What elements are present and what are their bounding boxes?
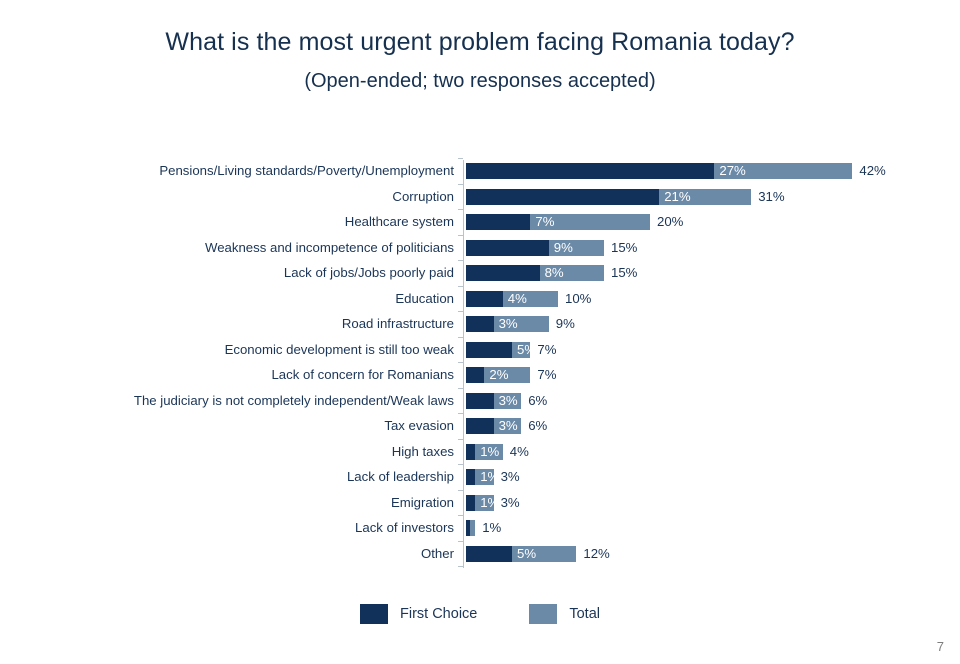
category-label: Road infrastructure <box>34 316 454 332</box>
bar-row: Pensions/Living standards/Poverty/Unempl… <box>0 163 960 189</box>
bar-first-choice <box>466 316 494 332</box>
category-label: Lack of investors <box>34 520 454 536</box>
bar-first-choice <box>466 393 494 409</box>
category-label: Emigration <box>34 495 454 511</box>
category-label: Lack of leadership <box>34 469 454 485</box>
bar-value-first-choice: 3% <box>494 393 518 409</box>
axis-tick <box>458 388 463 389</box>
legend-label: First Choice <box>400 606 477 622</box>
category-label: Lack of concern for Romanians <box>34 367 454 383</box>
bar-value-total: 7% <box>530 367 556 383</box>
bar-value-first-choice: 2% <box>484 367 508 383</box>
bar-value-first-choice: 1% <box>475 444 499 460</box>
axis-tick <box>458 464 463 465</box>
category-label: Lack of jobs/Jobs poorly paid <box>34 265 454 281</box>
category-label: Corruption <box>34 189 454 205</box>
bar-value-first-choice: 9% <box>549 240 573 256</box>
bar-row: Economic development is still too weak5%… <box>0 342 960 368</box>
bar-value-total: 20% <box>650 214 683 230</box>
bar-value-total: 12% <box>576 546 609 562</box>
bar-first-choice <box>466 367 484 383</box>
chart-plot-area: Pensions/Living standards/Poverty/Unempl… <box>0 0 960 664</box>
bar-row: Road infrastructure3%9% <box>0 316 960 342</box>
axis-tick <box>458 235 463 236</box>
axis-tick <box>458 515 463 516</box>
bar-value-total: 9% <box>549 316 575 332</box>
axis-tick <box>458 209 463 210</box>
bar-first-choice <box>466 469 475 485</box>
bar-first-choice <box>466 291 503 307</box>
bar-value-first-choice: 8% <box>540 265 564 281</box>
axis-tick <box>458 337 463 338</box>
category-label: High taxes <box>34 444 454 460</box>
axis-tick <box>458 184 463 185</box>
bar-value-total: 1% <box>475 520 501 536</box>
legend-item[interactable]: Total <box>529 604 600 624</box>
axis-tick <box>458 158 463 159</box>
bar-first-choice <box>466 444 475 460</box>
bar-value-first-choice: 3% <box>494 418 518 434</box>
bar-value-total: 6% <box>521 393 547 409</box>
bar-value-total: 42% <box>852 163 885 179</box>
category-label: Healthcare system <box>34 214 454 230</box>
bar-value-total: 15% <box>604 265 637 281</box>
axis-tick <box>458 286 463 287</box>
category-label: The judiciary is not completely independ… <box>34 393 454 409</box>
category-label: Economic development is still too weak <box>34 342 454 358</box>
axis-tick <box>458 490 463 491</box>
axis-tick <box>458 413 463 414</box>
axis-tick <box>458 311 463 312</box>
legend-swatch-icon <box>360 604 388 624</box>
axis-tick <box>458 362 463 363</box>
bar-row: Lack of investors1% <box>0 520 960 546</box>
bar-value-total: 3% <box>494 495 520 511</box>
bar-first-choice <box>466 495 475 511</box>
category-label: Education <box>34 291 454 307</box>
bar-row: Lack of concern for Romanians2%7% <box>0 367 960 393</box>
bar-first-choice <box>466 418 494 434</box>
bar-row: Emigration1%3% <box>0 495 960 521</box>
bar-value-total: 31% <box>751 189 784 205</box>
axis-tick <box>458 541 463 542</box>
bar-value-total: 6% <box>521 418 547 434</box>
bar-first-choice <box>466 163 714 179</box>
bar-row: Weakness and incompetence of politicians… <box>0 240 960 266</box>
bar-row: Tax evasion3%6% <box>0 418 960 444</box>
legend-swatch-icon <box>529 604 557 624</box>
bar-value-first-choice: 3% <box>494 316 518 332</box>
bar-value-first-choice: 4% <box>503 291 527 307</box>
bar-value-total: 3% <box>494 469 520 485</box>
bar-row: Lack of leadership1%3% <box>0 469 960 495</box>
bar-first-choice <box>466 214 530 230</box>
bar-row: Lack of jobs/Jobs poorly paid8%15% <box>0 265 960 291</box>
bar-value-total: 4% <box>503 444 529 460</box>
bar-row: The judiciary is not completely independ… <box>0 393 960 419</box>
axis-tick <box>458 260 463 261</box>
page-number: 7 <box>937 639 944 654</box>
bar-value-total: 10% <box>558 291 591 307</box>
legend-item[interactable]: First Choice <box>360 604 477 624</box>
category-label: Tax evasion <box>34 418 454 434</box>
legend-label: Total <box>569 606 600 622</box>
axis-tick <box>458 439 463 440</box>
bar-row: Other5%12% <box>0 546 960 572</box>
bar-value-first-choice: 5% <box>512 546 536 562</box>
bar-first-choice <box>466 240 549 256</box>
bar-value-total: 15% <box>604 240 637 256</box>
bar-first-choice <box>466 546 512 562</box>
axis-tick <box>458 566 463 567</box>
category-label: Other <box>34 546 454 562</box>
bar-row: Education4%10% <box>0 291 960 317</box>
bar-value-first-choice: 7% <box>530 214 554 230</box>
chart-legend: First ChoiceTotal <box>0 604 960 624</box>
category-label: Weakness and incompetence of politicians <box>34 240 454 256</box>
bar-row: Healthcare system7%20% <box>0 214 960 240</box>
bar-value-first-choice: 21% <box>659 189 690 205</box>
bar-first-choice <box>466 265 540 281</box>
bar-first-choice <box>466 342 512 358</box>
category-label: Pensions/Living standards/Poverty/Unempl… <box>34 163 454 179</box>
bar-value-total: 7% <box>530 342 556 358</box>
bar-first-choice <box>466 520 470 536</box>
bar-row: High taxes1%4% <box>0 444 960 470</box>
bar-row: Corruption21%31% <box>0 189 960 215</box>
bar-value-first-choice: 27% <box>714 163 745 179</box>
bar-first-choice <box>466 189 659 205</box>
